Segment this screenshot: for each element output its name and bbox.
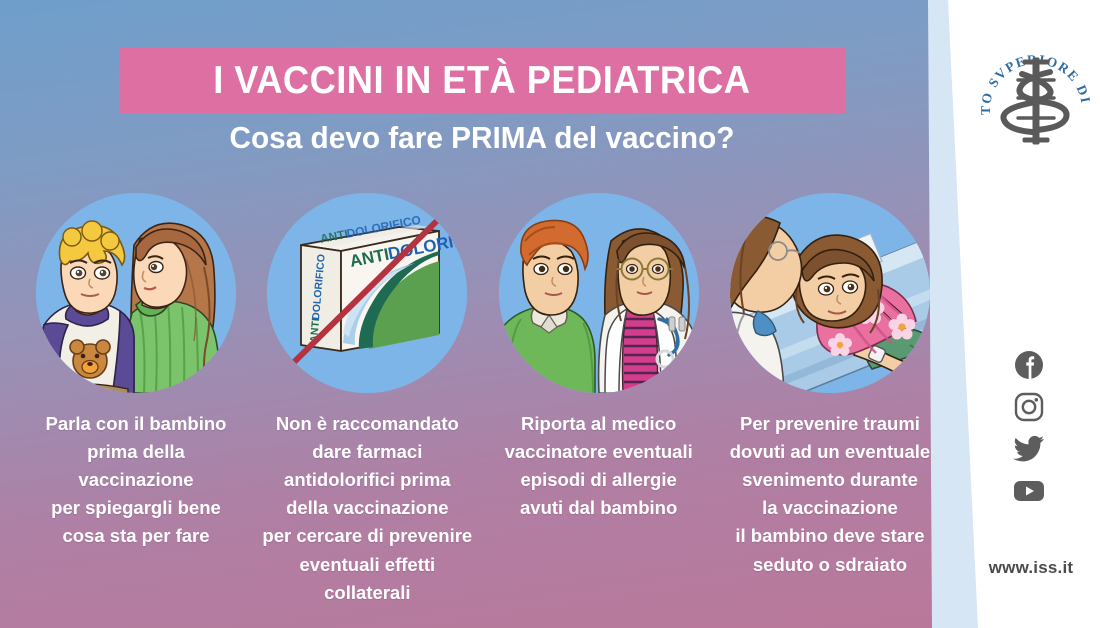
caption-line: Per prevenire traumi (730, 410, 930, 438)
card-report-allergies: Riporta al medico vaccinatore eventuali … (493, 193, 705, 522)
caption-line: avuti dal bambino (505, 494, 693, 522)
caption-line: cosa sta per fare (46, 522, 227, 550)
caption-line: dare farmaci (262, 438, 472, 466)
caption-line: Parla con il bambino (46, 410, 227, 438)
caption-line: vaccinatore eventuali (505, 438, 693, 466)
caption-line: eventuali effetti (262, 551, 472, 579)
social-links (1012, 348, 1058, 516)
card-seated-or-lying: Per prevenire traumi dovuti ad un eventu… (724, 193, 936, 579)
caption-line: seduto o sdraiato (730, 551, 930, 579)
instagram-icon[interactable] (1012, 390, 1046, 424)
card-caption: Per prevenire traumi dovuti ad un eventu… (730, 410, 930, 579)
caption-line: Riporta al medico (505, 410, 693, 438)
card-caption: Non è raccomandato dare farmaci antidolo… (262, 410, 472, 607)
caption-line: vaccinazione (46, 466, 227, 494)
website-url[interactable]: www.iss.it (972, 558, 1090, 578)
brand-rail: ISTITVTO SVPERIORE DI SANITÀ (972, 0, 1100, 628)
boy-and-mother-illustration (36, 193, 236, 393)
caption-line: per cercare di prevenire (262, 522, 472, 550)
caption-line: svenimento durante (730, 466, 930, 494)
caption-line: episodi di allergie (505, 466, 693, 494)
card-caption: Riporta al medico vaccinatore eventuali … (505, 410, 693, 522)
page-subtitle: Cosa devo fare PRIMA del vaccino? (134, 120, 831, 156)
card-no-painkillers: ANTI DOLORIFICO ANTI DOLORIFICO ANTI DOL… (261, 193, 473, 607)
caption-line: prima della (46, 438, 227, 466)
caption-line: antidolorifici prima (262, 466, 472, 494)
youtube-icon[interactable] (1012, 474, 1046, 508)
facebook-icon[interactable] (1012, 348, 1046, 382)
poster-root: I VACCINI IN ETÀ PEDIATRICA Cosa devo fa… (0, 0, 1100, 628)
girl-lying-on-exam-table-illustration (730, 193, 930, 393)
caption-line: per spiegargli bene (46, 494, 227, 522)
caption-line: collaterali (262, 579, 472, 607)
title-banner: I VACCINI IN ETÀ PEDIATRICA (119, 48, 845, 114)
caption-line: della vaccinazione (262, 494, 472, 522)
card-talk-to-child: Parla con il bambino prima della vaccina… (30, 193, 242, 551)
iss-logo: ISTITVTO SVPERIORE DI SANITÀ (978, 36, 1094, 158)
twitter-icon[interactable] (1012, 432, 1046, 466)
caption-line: Non è raccomandato (262, 410, 472, 438)
card-caption: Parla con il bambino prima della vaccina… (46, 410, 227, 551)
card-row: Parla con il bambino prima della vaccina… (30, 193, 936, 613)
caption-line: la vaccinazione (730, 494, 930, 522)
page-title: I VACCINI IN ETÀ PEDIATRICA (213, 59, 750, 103)
boy-and-doctor-illustration (499, 193, 699, 393)
painkiller-box-crossed-out-illustration: ANTI DOLORIFICO ANTI DOLORIFICO ANTI DOL… (267, 193, 467, 393)
caption-line: il bambino deve stare (730, 522, 930, 550)
caption-line: dovuti ad un eventuale (730, 438, 930, 466)
